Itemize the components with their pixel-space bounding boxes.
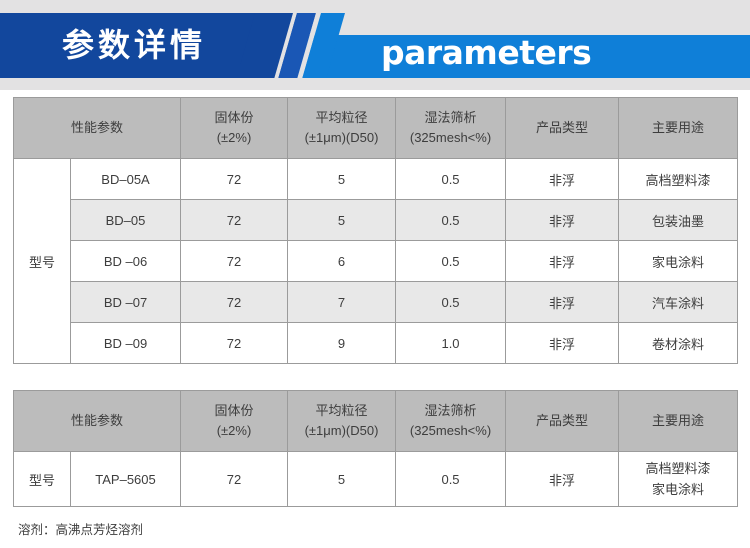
cell-wet-sieve: 1.0 — [396, 323, 506, 364]
cell-product-type: 非浮 — [506, 200, 619, 241]
cell-particle-size: 5 — [288, 200, 396, 241]
header-product-type: 产品类型 — [506, 391, 619, 452]
header-solid-content: 固体份 (±2%) — [181, 98, 288, 159]
table1-row-label: 型号 — [14, 159, 71, 364]
table1-wrapper: 性能参数 固体份 (±2%) 平均粒径 (±1μm)(D50) 湿法筛析 (32… — [0, 97, 750, 364]
header-wet-sieve-line1: 湿法筛析 — [398, 401, 503, 421]
cell-main-use: 卷材涂料 — [619, 323, 738, 364]
cell-main-use: 高档塑料漆 家电涂料 — [619, 452, 738, 507]
cell-solid-content: 72 — [181, 452, 288, 507]
header-main-use: 主要用途 — [619, 98, 738, 159]
cell-solid-content: 72 — [181, 200, 288, 241]
header-wet-sieve-line2: (325mesh<%) — [398, 421, 503, 441]
header-avg-particle-size: 平均粒径 (±1μm)(D50) — [288, 98, 396, 159]
header-solid-content-line1: 固体份 — [183, 401, 285, 421]
cell-main-use-line2: 家电涂料 — [621, 479, 735, 500]
cell-main-use-line1: 高档塑料漆 — [621, 458, 735, 479]
cell-model: BD–05A — [71, 159, 181, 200]
page-banner: 参数详情 parameters — [0, 0, 750, 90]
table2-wrapper: 性能参数 固体份 (±2%) 平均粒径 (±1μm)(D50) 湿法筛析 (32… — [0, 390, 750, 507]
cell-solid-content: 72 — [181, 241, 288, 282]
spacer-between-tables — [0, 364, 750, 390]
cell-model: BD –09 — [71, 323, 181, 364]
cell-particle-size: 5 — [288, 159, 396, 200]
cell-wet-sieve: 0.5 — [396, 241, 506, 282]
cell-model: BD–05 — [71, 200, 181, 241]
cell-model: BD –07 — [71, 282, 181, 323]
table-row: BD–05 72 5 0.5 非浮 包装油墨 — [14, 200, 738, 241]
cell-wet-sieve: 0.5 — [396, 282, 506, 323]
header-solid-content: 固体份 (±2%) — [181, 391, 288, 452]
cell-wet-sieve: 0.5 — [396, 159, 506, 200]
cell-solid-content: 72 — [181, 323, 288, 364]
cell-main-use: 高档塑料漆 — [619, 159, 738, 200]
table-row: BD –09 72 9 1.0 非浮 卷材涂料 — [14, 323, 738, 364]
table-row: 型号 TAP–5605 72 5 0.5 非浮 高档塑料漆 家电涂料 — [14, 452, 738, 507]
table-row: BD –07 72 7 0.5 非浮 汽车涂料 — [14, 282, 738, 323]
cell-particle-size: 7 — [288, 282, 396, 323]
cell-main-use: 家电涂料 — [619, 241, 738, 282]
cell-model: BD –06 — [71, 241, 181, 282]
cell-model: TAP–5605 — [71, 452, 181, 507]
cell-product-type: 非浮 — [506, 241, 619, 282]
banner-english-title: parameters — [381, 33, 591, 73]
header-solid-content-line1: 固体份 — [183, 108, 285, 128]
cell-main-use: 汽车涂料 — [619, 282, 738, 323]
header-wet-sieve: 湿法筛析 (325mesh<%) — [396, 98, 506, 159]
banner-chinese-title: 参数详情 — [62, 20, 206, 70]
cell-solid-content: 72 — [181, 159, 288, 200]
header-avg-particle-line2: (±1μm)(D50) — [290, 421, 393, 441]
header-avg-particle-line1: 平均粒径 — [290, 108, 393, 128]
parameters-table-primary: 性能参数 固体份 (±2%) 平均粒径 (±1μm)(D50) 湿法筛析 (32… — [13, 97, 738, 364]
header-wet-sieve: 湿法筛析 (325mesh<%) — [396, 391, 506, 452]
cell-product-type: 非浮 — [506, 159, 619, 200]
header-solid-content-line2: (±2%) — [183, 128, 285, 148]
cell-wet-sieve: 0.5 — [396, 452, 506, 507]
spacer-top — [0, 90, 750, 97]
header-performance-parameters: 性能参数 — [14, 391, 181, 452]
header-main-use: 主要用途 — [619, 391, 738, 452]
cell-product-type: 非浮 — [506, 323, 619, 364]
table2-row-label: 型号 — [14, 452, 71, 507]
cell-wet-sieve: 0.5 — [396, 200, 506, 241]
header-product-type: 产品类型 — [506, 98, 619, 159]
cell-particle-size: 9 — [288, 323, 396, 364]
cell-solid-content: 72 — [181, 282, 288, 323]
cell-product-type: 非浮 — [506, 282, 619, 323]
header-solid-content-line2: (±2%) — [183, 421, 285, 441]
cell-particle-size: 5 — [288, 452, 396, 507]
table-row: BD –06 72 6 0.5 非浮 家电涂料 — [14, 241, 738, 282]
parameters-table-secondary: 性能参数 固体份 (±2%) 平均粒径 (±1μm)(D50) 湿法筛析 (32… — [13, 390, 738, 507]
header-performance-parameters: 性能参数 — [14, 98, 181, 159]
header-avg-particle-line1: 平均粒径 — [290, 401, 393, 421]
cell-main-use: 包装油墨 — [619, 200, 738, 241]
header-avg-particle-size: 平均粒径 (±1μm)(D50) — [288, 391, 396, 452]
solvent-footnote: 溶剂：高沸点芳烃溶剂 — [0, 507, 750, 539]
cell-particle-size: 6 — [288, 241, 396, 282]
header-avg-particle-line2: (±1μm)(D50) — [290, 128, 393, 148]
cell-product-type: 非浮 — [506, 452, 619, 507]
header-wet-sieve-line1: 湿法筛析 — [398, 108, 503, 128]
table2-header-row: 性能参数 固体份 (±2%) 平均粒径 (±1μm)(D50) 湿法筛析 (32… — [14, 391, 738, 452]
table-row: 型号 BD–05A 72 5 0.5 非浮 高档塑料漆 — [14, 159, 738, 200]
table1-header-row: 性能参数 固体份 (±2%) 平均粒径 (±1μm)(D50) 湿法筛析 (32… — [14, 98, 738, 159]
header-wet-sieve-line2: (325mesh<%) — [398, 128, 503, 148]
